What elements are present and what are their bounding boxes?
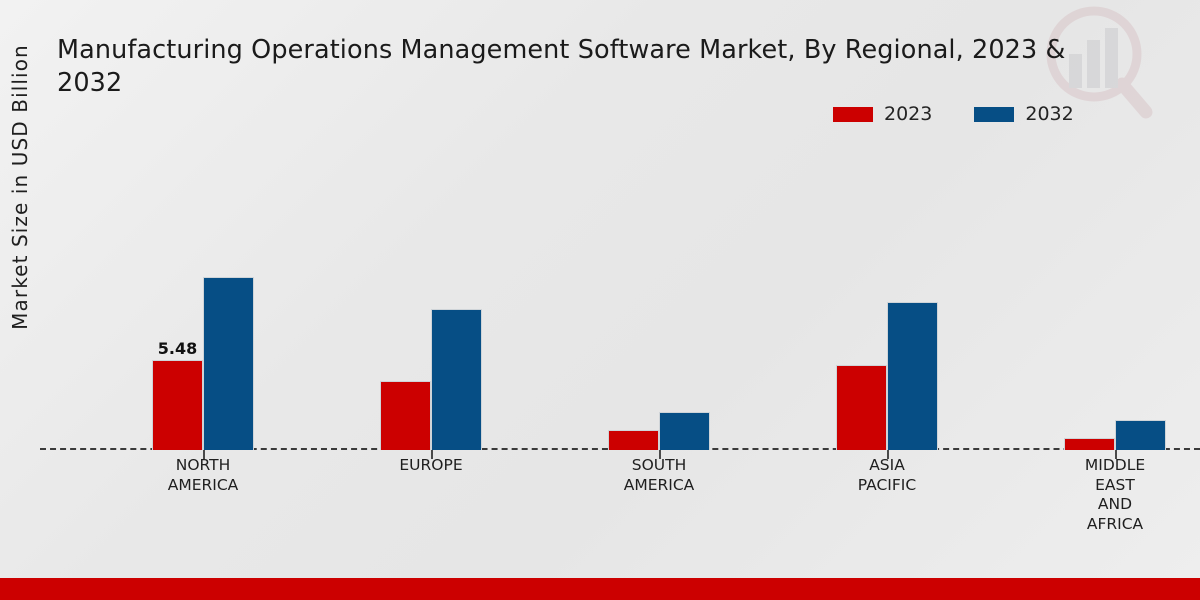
bar-2032-north-america[interactable]: [203, 277, 254, 450]
legend-label-2032: 2032: [1025, 103, 1073, 125]
x-axis-label-south-america: SOUTH AMERICA: [579, 456, 739, 495]
bar-group-south-america: SOUTH AMERICA: [568, 140, 728, 450]
bar-2032-south-america[interactable]: [659, 412, 710, 450]
bar-group-middle-east-and-africa: MIDDLE EAST AND AFRICA: [1024, 140, 1184, 450]
bar-2023-asia-pacific[interactable]: [836, 365, 887, 450]
bar-2023-south-america[interactable]: [608, 430, 659, 450]
chart-title: Manufacturing Operations Management Soft…: [57, 34, 1200, 100]
chart-page: Manufacturing Operations Management Soft…: [0, 0, 1200, 600]
legend-item-2032[interactable]: 2032: [974, 103, 1073, 125]
bar-2032-europe[interactable]: [431, 309, 482, 450]
chart-legend: 2023 2032: [833, 103, 1074, 125]
legend-swatch-blue-icon: [974, 107, 1014, 122]
x-axis-label-north-america: NORTH AMERICA: [123, 456, 283, 495]
legend-item-2023[interactable]: 2023: [833, 103, 932, 125]
y-axis-title: Market Size in USD Billion: [8, 17, 32, 357]
bar-group-asia-pacific: ASIA PACIFIC: [796, 140, 956, 450]
bar-2032-middle-east-and-africa[interactable]: [1115, 420, 1166, 450]
bar-2023-north-america[interactable]: 5.48: [152, 360, 203, 450]
plot-area: 5.48 NORTH AMERICA EUROPE SOUTH AMERICA: [40, 140, 1200, 450]
bar-group-europe: EUROPE: [340, 140, 500, 450]
legend-swatch-red-icon: [833, 107, 873, 122]
x-axis-label-middle-east-and-africa: MIDDLE EAST AND AFRICA: [1035, 456, 1195, 534]
x-axis-label-asia-pacific: ASIA PACIFIC: [807, 456, 967, 495]
bar-2023-europe[interactable]: [380, 381, 431, 450]
bar-value-label-2023-north-america: 5.48: [153, 339, 202, 358]
bar-2023-middle-east-and-africa[interactable]: [1064, 438, 1115, 450]
bar-group-north-america: 5.48 NORTH AMERICA: [112, 140, 272, 450]
x-axis-label-europe: EUROPE: [351, 456, 511, 476]
bar-2032-asia-pacific[interactable]: [887, 302, 938, 450]
bottom-accent-stripe: [0, 578, 1200, 600]
legend-label-2023: 2023: [884, 103, 932, 125]
